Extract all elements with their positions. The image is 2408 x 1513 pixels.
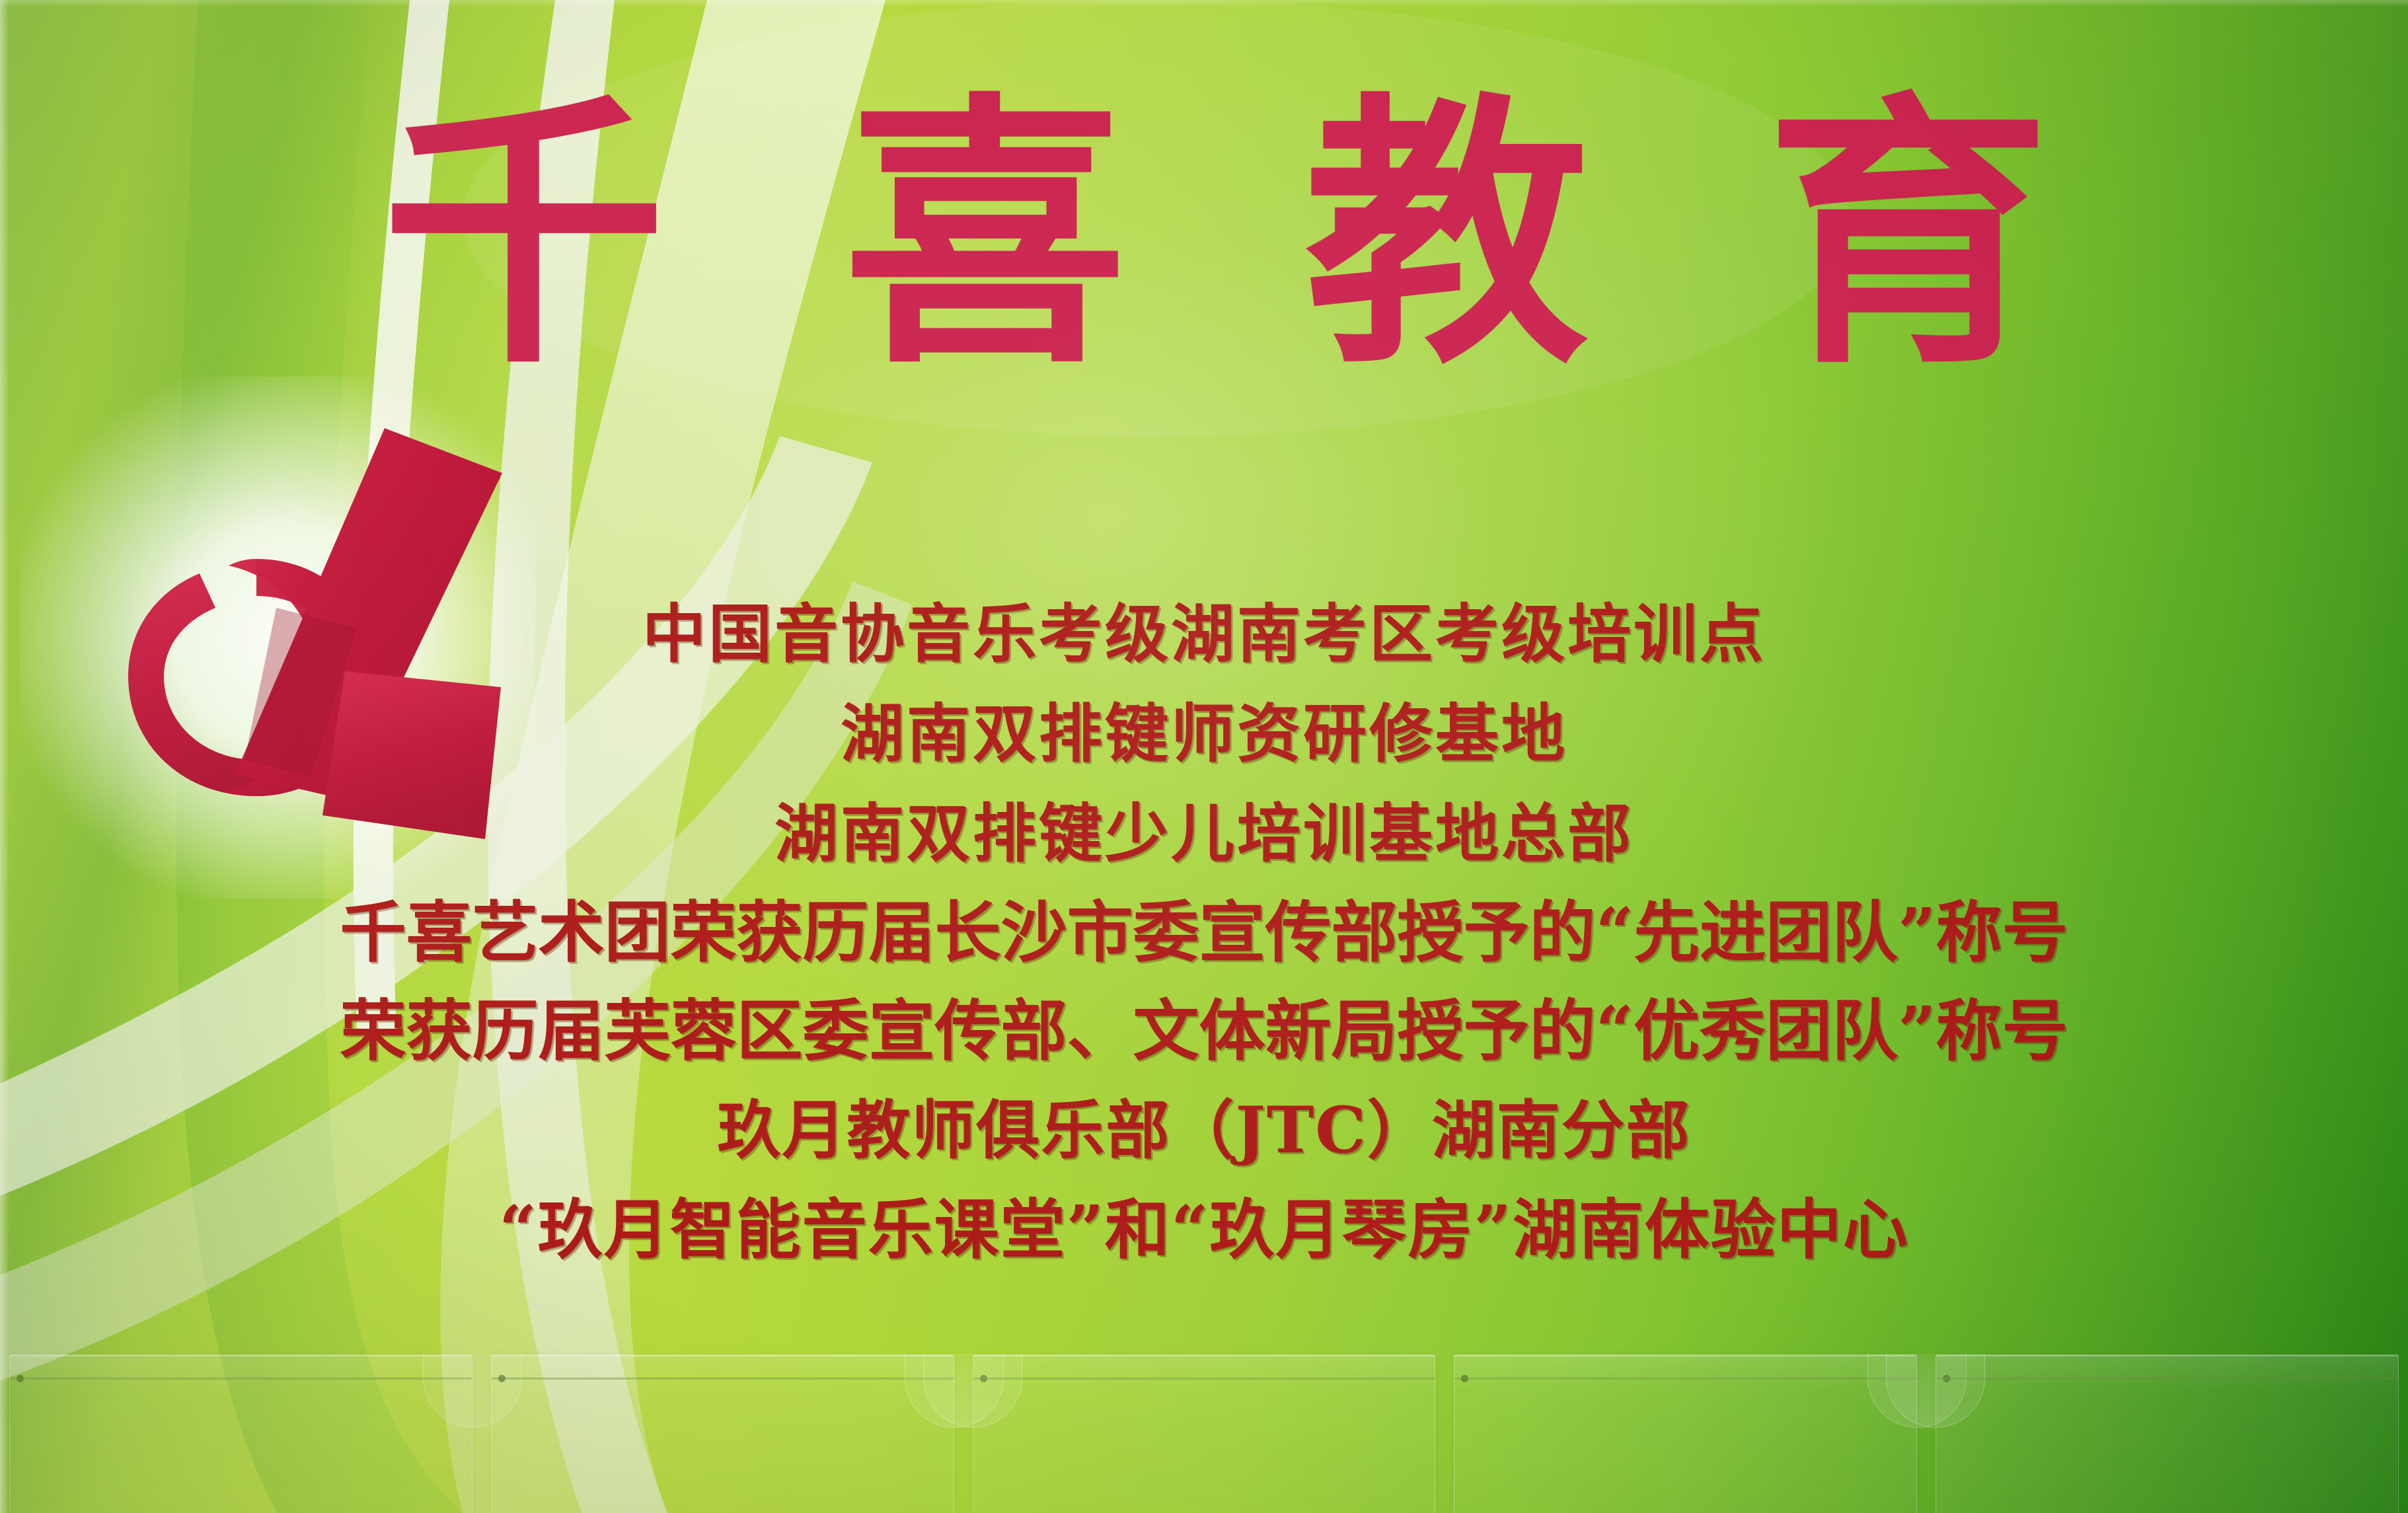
headline-char-2: 喜	[843, 94, 1127, 379]
credential-line-3: 湖南双排键少儿培训基地总部	[0, 784, 2408, 883]
credential-line-4: 千喜艺术团荣获历届长沙市委宣传部授予的“先进团队”称号	[0, 883, 2408, 981]
credential-line-1: 中国音协音乐考级湖南考区考级培训点	[0, 585, 2408, 684]
credential-line-7: “玖月智能音乐课堂”和“玖月琴房”湖南体验中心	[0, 1181, 2408, 1280]
credentials-list: 中国音协音乐考级湖南考区考级培训点 湖南双排键师资研修基地 湖南双排键少儿培训基…	[0, 585, 2408, 1280]
page-title: 千 喜 教 育	[370, 52, 2062, 422]
credential-line-5: 荣获历届芙蓉区委宣传部、文体新局授予的“优秀团队”称号	[0, 981, 2408, 1080]
credential-line-2: 湖南双排键师资研修基地	[0, 684, 2408, 784]
headline-char-4: 育	[1766, 94, 2050, 379]
headline-char-3: 教	[1304, 94, 1589, 379]
headline-char-1: 千	[382, 94, 666, 379]
signage-wall: 千 喜 教 育 中国音协音乐考级湖南考区考级培训点 湖南双排键师资研修基地 湖南…	[0, 0, 2408, 1513]
credential-line-6: 玖月教师俱乐部（JTC）湖南分部	[0, 1080, 2408, 1181]
